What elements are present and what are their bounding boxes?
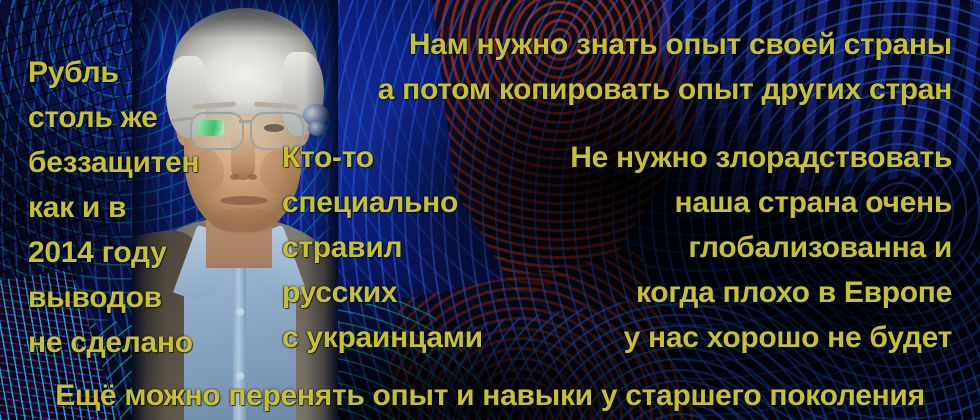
caption-line: а потом копировать опыт других стран [378, 67, 952, 112]
caption-line: русских [282, 270, 483, 315]
caption-line: когда плохо в Европе [570, 270, 952, 315]
mouth [220, 196, 268, 205]
shirt-button [236, 308, 244, 316]
caption-middle: Кто-то специально стравил русских с укра… [282, 135, 483, 360]
caption-line: столь же [28, 95, 199, 140]
caption-line: стравил [282, 225, 483, 270]
eyeglasses-glare [198, 120, 224, 136]
eyeglasses-bridge [239, 120, 252, 123]
caption-line: беззащитен [28, 140, 199, 185]
caption-line: Не нужно злорадствовать [570, 135, 952, 180]
caption-line: Нам нужно знать опыт своей страны [378, 22, 952, 67]
caption-line: 2014 году [28, 230, 199, 275]
caption-line: с украинцами [282, 315, 483, 360]
caption-line: глобализованна и [570, 225, 952, 270]
caption-line: как и в [28, 185, 199, 230]
caption-line: Рубль [28, 50, 199, 95]
image-canvas: Нам нужно знать опыт своей страны а пото… [0, 0, 980, 420]
nostril-right [248, 174, 257, 180]
caption-line: специально [282, 180, 483, 225]
caption-line: Кто-то [282, 135, 483, 180]
caption-line: не сделано [28, 320, 199, 365]
caption-line: Ещё можно перенять опыт и навыки у старш… [0, 373, 980, 418]
caption-right: Не нужно злорадствовать наша страна очен… [570, 135, 952, 360]
chin [210, 208, 280, 234]
caption-bottom: Ещё можно перенять опыт и навыки у старш… [0, 373, 980, 418]
earpiece-device-tip [308, 120, 326, 136]
caption-line: у нас хорошо не будет [570, 315, 952, 360]
caption-line: выводов [28, 275, 199, 320]
nostril-left [230, 174, 239, 180]
caption-line: наша страна очень [570, 180, 952, 225]
caption-left: Рубль столь же беззащитен как и в 2014 г… [28, 50, 199, 365]
caption-top: Нам нужно знать опыт своей страны а пото… [378, 22, 952, 112]
